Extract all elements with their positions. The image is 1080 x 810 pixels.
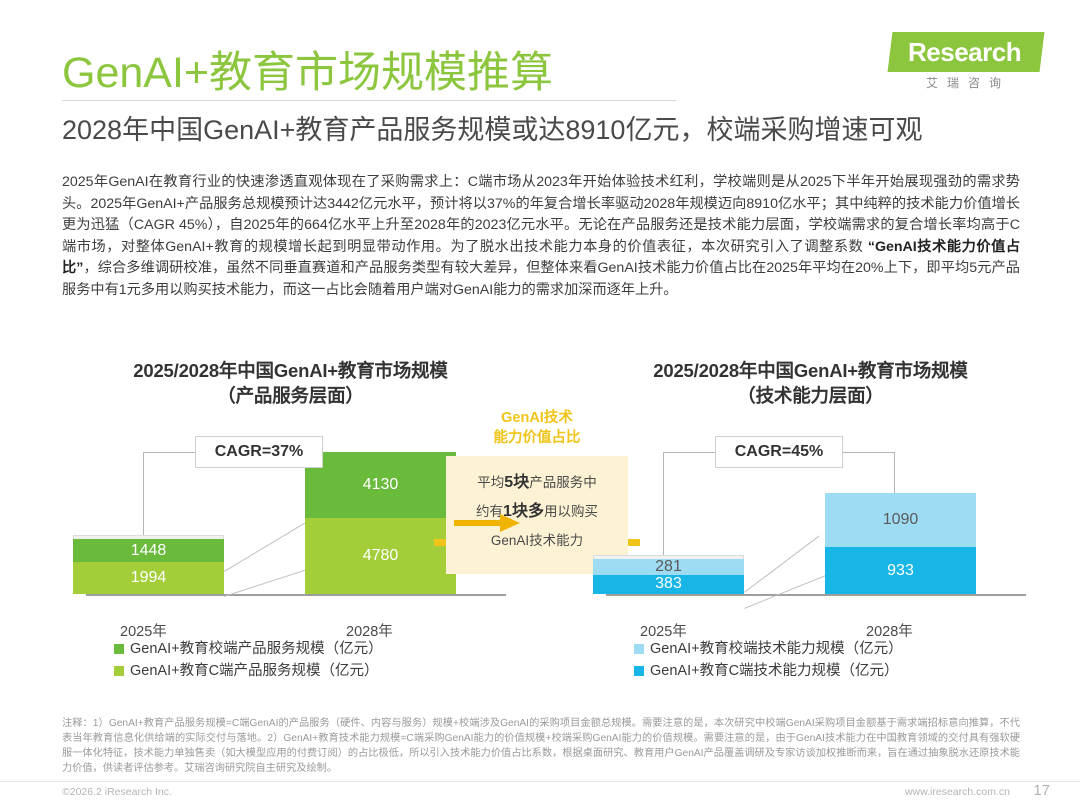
bar-seg-school-2028-product: 4130 [305,452,456,518]
page-number: 17 [1033,782,1050,799]
legend-item-school-tech: GenAI+教育校端技术能力规模（亿元） [634,638,1054,660]
legend-swatch-icon-school-tech [634,644,644,654]
intro-text-part2: ，综合多维调研校准，虽然不同垂直赛道和产品服务类型有较大差异，但整体来看GenA… [62,260,1020,298]
cagr-connector-left-tech [663,452,664,560]
iresearch-logo: Research 艾瑞咨询 [866,32,1042,94]
chart-title-line1: 2025/2028年中国GenAI+教育市场规模 [58,358,523,383]
legend-label-school-tech: GenAI+教育校端技术能力规模（亿元） [650,638,903,660]
callout-tab-left-icon [434,539,446,546]
copyright-text: ©2026.2 iResearch Inc. [62,786,172,798]
bar-seg-consumer-2025-product: 1994 [73,562,224,594]
bar-seg-consumer-2028-product: 4780 [305,518,456,594]
cagr-label-tech-capability: CAGR=45% [715,436,843,468]
arrow-right-icon [452,512,522,534]
page-header: GenAI+教育市场规模推算 2028年中国GenAI+教育产品服务规模或达89… [0,0,1080,155]
chart-panel-tech-capability: 2025/2028年中国GenAI+教育市场规模 （技术能力层面） CAGR=4… [578,358,1043,708]
legend-product-service: GenAI+教育校端产品服务规模（亿元） GenAI+教育C端产品服务规模（亿元… [114,638,534,682]
legend-tech-capability: GenAI+教育校端技术能力规模（亿元） GenAI+教育C端技术能力规模（亿元… [634,638,1054,682]
footnotes: 注释：1）GenAI+教育产品服务规模=C端GenAI的产品服务（硬件、内容与服… [62,716,1020,776]
cagr-label-product-service: CAGR=37% [195,436,323,468]
bar-seg-school-2025-tech: 281 [593,559,744,575]
legend-item-consumer-product: GenAI+教育C端产品服务规模（亿元） [114,660,534,682]
logo-chinese-name: 艾瑞咨询 [894,74,1042,91]
website-url: www.iresearch.com.cn [905,786,1010,798]
bar-2025-product: 1448 1994 [73,539,224,594]
legend-swatch-icon-school-product [114,644,124,654]
callout-line-1-pre: 平均 [477,475,504,490]
intro-paragraph: 2025年GenAI在教育行业的快速渗透直观体现在了采购需求上：C端市场从202… [62,172,1020,302]
bar-seg-consumer-2028-tech: 933 [825,547,976,594]
legend-label-consumer-product: GenAI+教育C端产品服务规模（亿元） [130,660,379,682]
chart-title-line2: （产品服务层面） [58,383,523,408]
logo-wordmark: Research [896,33,1042,71]
bar-seg-consumer-2025-tech: 383 [593,575,744,594]
legend-label-consumer-tech: GenAI+教育C端技术能力规模（亿元） [650,660,899,682]
chart-title-tech-capability: 2025/2028年中国GenAI+教育市场规模 （技术能力层面） [578,358,1043,408]
cagr-connector-left [143,452,144,540]
bar-2028-tech: 1090 933 [825,493,976,594]
chart-title-line2-tech: （技术能力层面） [578,383,1043,408]
callout-line-1-bold: 5块 [504,474,529,491]
leader-line-top-tech [744,535,820,592]
chart-plot-tech-capability: CAGR=45% 664 2023 281 383 1090 933 2025年… [578,418,1043,648]
legend-swatch-icon-consumer-product [114,666,124,676]
leader-line-mid-product [224,568,310,597]
leader-line-mid-tech [744,574,830,609]
chart-title-line1-tech: 2025/2028年中国GenAI+教育市场规模 [578,358,1043,383]
page-title: GenAI+教育市场规模推算 [62,38,553,100]
title-divider [62,100,676,101]
footer-divider [0,781,1080,782]
legend-swatch-icon-consumer-tech [634,666,644,676]
legend-item-school-product: GenAI+教育校端产品服务规模（亿元） [114,638,534,660]
x-axis-line [86,594,506,596]
bar-seg-school-2028-tech: 1090 [825,493,976,547]
page-subtitle: 2028年中国GenAI+教育产品服务规模或达8910亿元，校端采购增速可观 [62,108,922,147]
chart-title-product-service: 2025/2028年中国GenAI+教育市场规模 （产品服务层面） [58,358,523,408]
leader-line-top-product [224,523,305,572]
x-axis-line-tech [606,594,1026,596]
bar-seg-school-2025-product: 1448 [73,539,224,562]
legend-item-consumer-tech: GenAI+教育C端技术能力规模（亿元） [634,660,1054,682]
bar-2025-tech: 281 383 [593,559,744,594]
legend-label-school-product: GenAI+教育校端产品服务规模（亿元） [130,638,383,660]
bar-2028-product: 4130 4780 [305,452,456,594]
